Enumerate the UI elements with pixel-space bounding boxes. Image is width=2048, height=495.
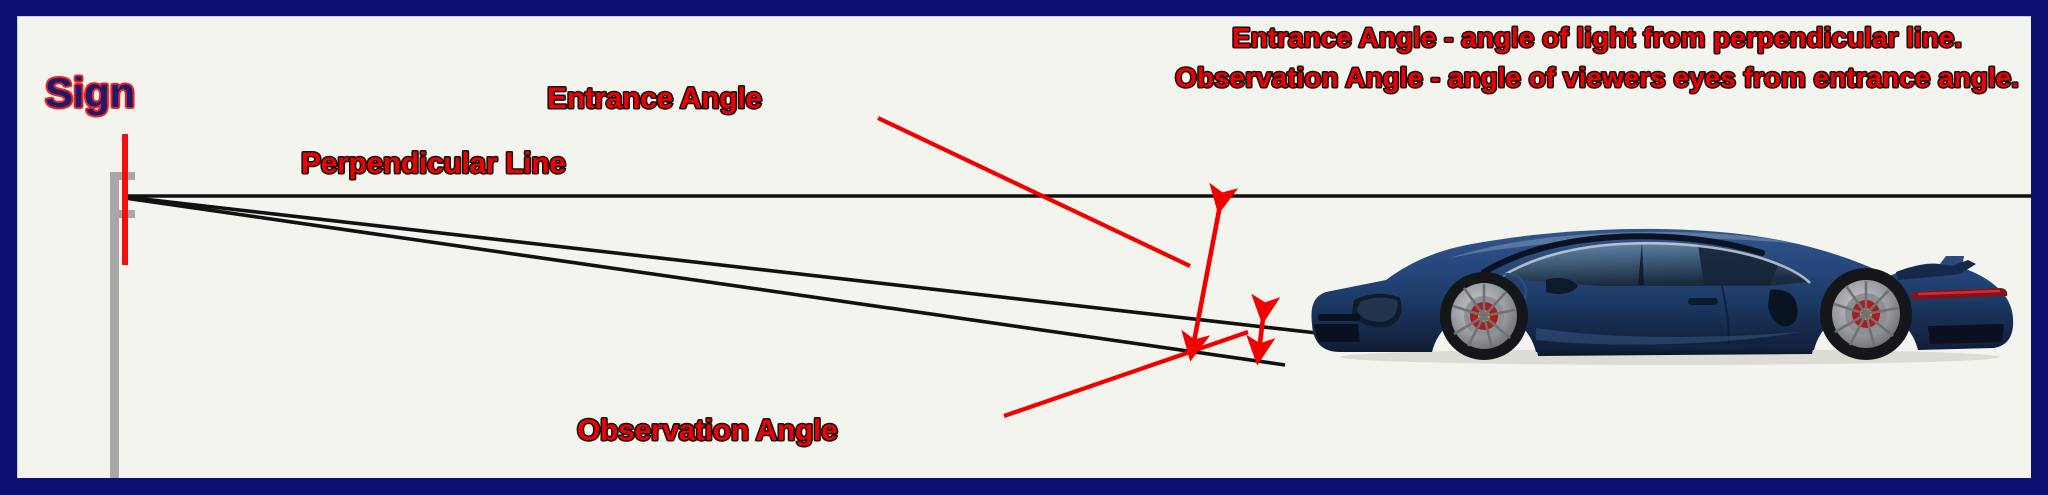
- side-skirt: [1536, 344, 1814, 356]
- observation-angle-leader: [1004, 332, 1248, 416]
- legend-block: Entrance Angle - angle of light from per…: [1175, 18, 2019, 98]
- sign-face-icon: [122, 134, 128, 265]
- page-title: Sign: [45, 72, 135, 114]
- legend-line-observation: Observation Angle - angle of viewers eye…: [1175, 58, 2019, 98]
- legend-line-entrance: Entrance Angle - angle of light from per…: [1175, 18, 2019, 58]
- front-air-dam: [1314, 324, 1360, 342]
- rear-wheel: [1820, 268, 1912, 360]
- observation-ray: [125, 198, 1285, 365]
- diagram-canvas: Sign Perpendicular Line Entrance Angle O…: [17, 16, 2031, 478]
- observation-angle-label: Observation Angle: [577, 416, 838, 446]
- door-handle: [1688, 298, 1718, 305]
- entrance-angle-leader: [878, 118, 1190, 266]
- car-icon: [1300, 206, 2020, 366]
- rear-diffuser: [1928, 324, 2004, 344]
- entrance-angle-arrow: [1193, 200, 1221, 347]
- perpendicular-line-label: Perpendicular Line: [301, 149, 566, 179]
- observation-angle-arrow: [1259, 310, 1264, 351]
- entrance-angle-label: Entrance Angle: [547, 84, 762, 114]
- diagram-window: Sign Perpendicular Line Entrance Angle O…: [0, 0, 2048, 495]
- front-wheel: [1440, 272, 1528, 360]
- sign-post-icon: [110, 172, 119, 478]
- entrance-ray: [125, 197, 1317, 333]
